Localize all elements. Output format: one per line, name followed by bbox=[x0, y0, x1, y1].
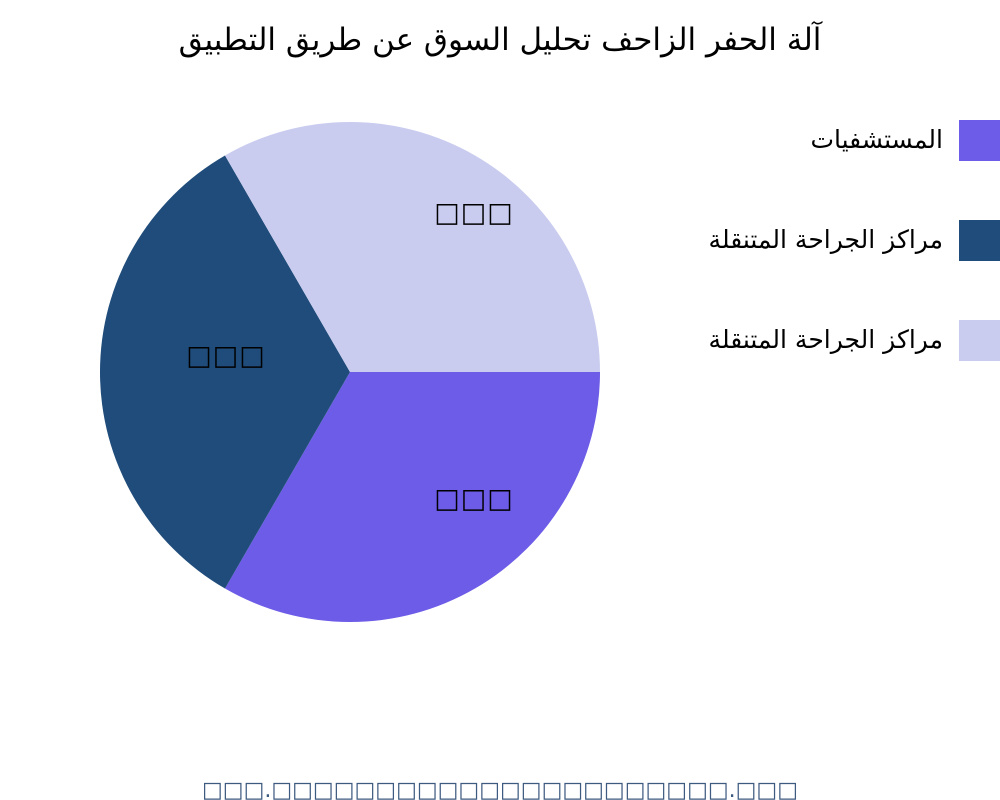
legend-label-mobile-surgery-2: مراكز الجراحة المتنقلة bbox=[709, 320, 959, 360]
chart-legend: المستشفيات مراكز الجراحة المتنقلة مراكز … bbox=[617, 120, 1000, 380]
legend-swatch-mobile-surgery-2 bbox=[959, 320, 1000, 361]
legend-item-2[interactable]: مراكز الجراحة المتنقلة bbox=[617, 320, 1000, 360]
source-watermark: □□□.□□□□□□□□□□□□□□□□□□□□□□.□□□ bbox=[0, 778, 1000, 800]
legend-label-hospitals: المستشفيات bbox=[810, 120, 959, 160]
pie-chart-svg: □□□□□□□□□ bbox=[100, 122, 600, 622]
chart-figure: آلة الحفر الزاحف تحليل السوق عن طريق الت… bbox=[0, 0, 1000, 800]
pie-slice-label-1: □□□ bbox=[186, 341, 266, 372]
legend-swatch-hospitals bbox=[959, 120, 1000, 161]
pie-chart: □□□□□□□□□ bbox=[100, 122, 600, 622]
legend-item-0[interactable]: المستشفيات bbox=[617, 120, 1000, 160]
legend-label-mobile-surgery-1: مراكز الجراحة المتنقلة bbox=[709, 220, 959, 260]
pie-slice-label-2: □□□ bbox=[434, 198, 514, 229]
legend-swatch-mobile-surgery-1 bbox=[959, 220, 1000, 261]
pie-slice-label-0: □□□ bbox=[434, 484, 514, 515]
legend-item-1[interactable]: مراكز الجراحة المتنقلة bbox=[617, 220, 1000, 260]
page-title: آلة الحفر الزاحف تحليل السوق عن طريق الت… bbox=[0, 20, 1000, 60]
pie-slice-group bbox=[100, 122, 600, 622]
